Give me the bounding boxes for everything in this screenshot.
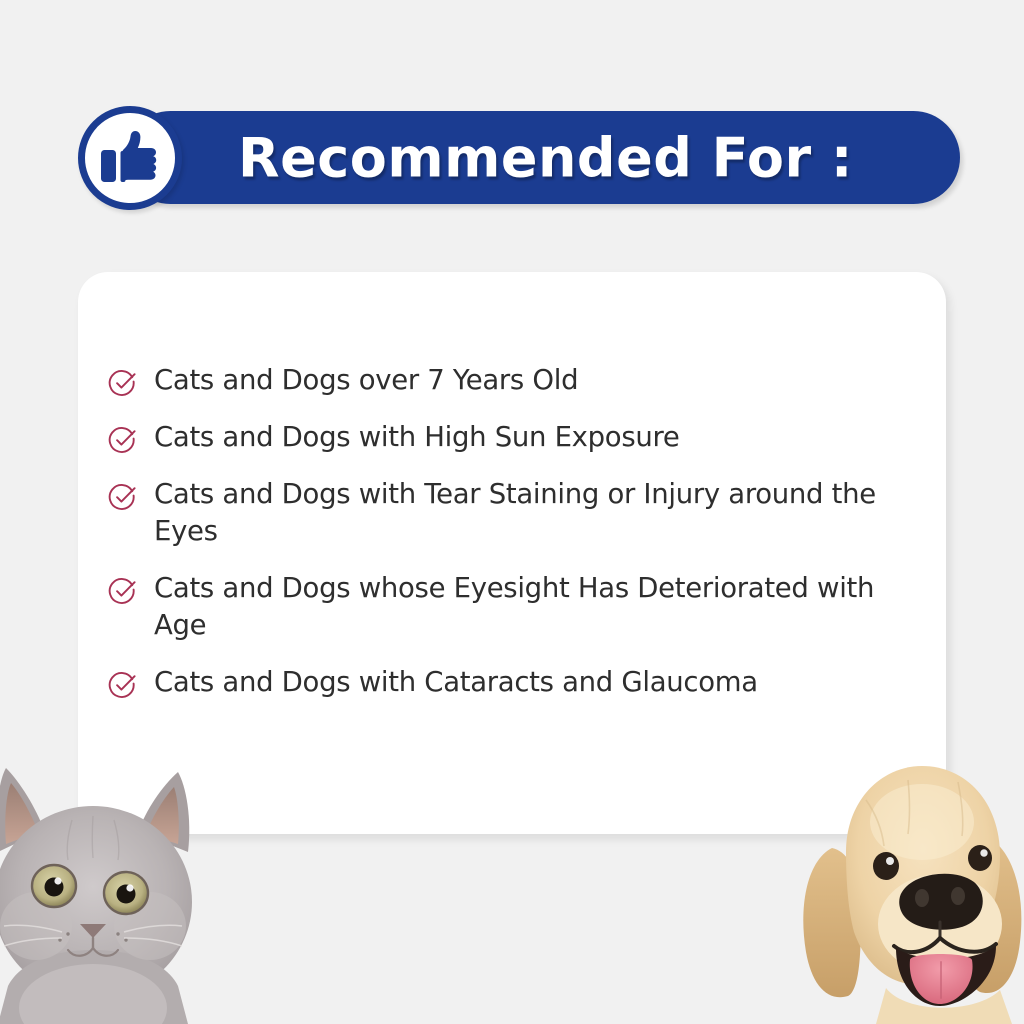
kitten-photo xyxy=(0,756,204,1024)
list-item: Cats and Dogs with High Sun Exposure xyxy=(108,419,926,456)
list-item-label: Cats and Dogs whose Eyesight Has Deterio… xyxy=(154,570,924,644)
header-banner: Recommended For : xyxy=(78,111,960,204)
banner-title: Recommended For : xyxy=(238,126,853,189)
thumbs-up-badge xyxy=(78,106,182,210)
check-circle-icon xyxy=(108,576,138,606)
list-item: Cats and Dogs with Tear Staining or Inju… xyxy=(108,476,926,550)
thumbs-up-icon xyxy=(99,129,161,187)
check-circle-icon xyxy=(108,425,138,455)
recommendations-card: Cats and Dogs over 7 Years Old Cats and … xyxy=(78,272,946,834)
check-circle-icon xyxy=(108,368,138,398)
promo-graphic: Recommended For : xyxy=(0,0,1024,1024)
list-item-label: Cats and Dogs with Cataracts and Glaucom… xyxy=(154,664,758,701)
list-item: Cats and Dogs over 7 Years Old xyxy=(108,362,926,399)
list-item-label: Cats and Dogs with Tear Staining or Inju… xyxy=(154,476,924,550)
list-item: Cats and Dogs with Cataracts and Glaucom… xyxy=(108,664,926,701)
list-item-label: Cats and Dogs over 7 Years Old xyxy=(154,362,578,399)
puppy-photo xyxy=(790,756,1024,1024)
list-item: Cats and Dogs whose Eyesight Has Deterio… xyxy=(108,570,926,644)
recommendations-list: Cats and Dogs over 7 Years Old Cats and … xyxy=(108,362,926,701)
check-circle-icon xyxy=(108,482,138,512)
check-circle-icon xyxy=(108,670,138,700)
list-item-label: Cats and Dogs with High Sun Exposure xyxy=(154,419,680,456)
